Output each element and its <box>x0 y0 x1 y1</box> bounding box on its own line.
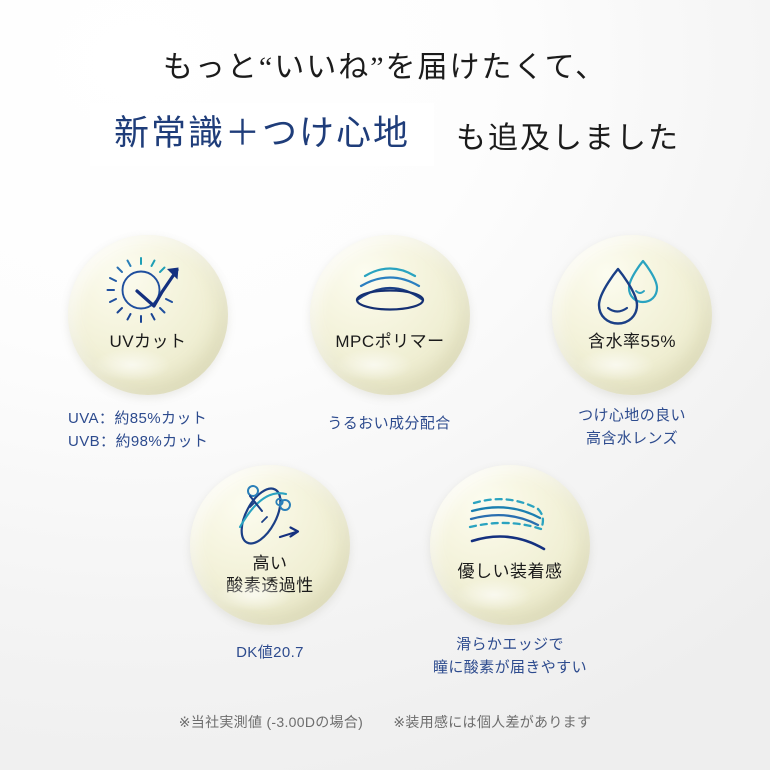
feature-label-mpc-polymer: MPCポリマー <box>310 331 470 353</box>
feature-caption-uv-cut: UVA：約85%カット UVB：約98%カット <box>28 408 308 453</box>
sun-uv-icon <box>68 255 228 327</box>
feature-sphere-oxygen-permeability: 高い 酸素透過性 <box>190 465 350 625</box>
smooth-edge-icon <box>430 485 590 557</box>
promo-panel: もっと“いいね”を届けたくて、 新常識＋つけ心地 も追及しました <box>0 0 770 770</box>
feature-sphere-uv-cut: UVカット <box>68 235 228 395</box>
feature-caption-oxygen-permeability: DK値20.7 <box>170 642 370 665</box>
headline-line-1: もっと“いいね”を届けたくて、 <box>0 50 770 86</box>
feature-label-uv-cut: UVカット <box>68 331 228 353</box>
water-drop-icon <box>552 255 712 327</box>
headline-highlight-box: 新常識＋つけ心地 <box>90 103 434 166</box>
feature-caption-mpc-polymer: うるおい成分配合 <box>289 413 489 436</box>
headline-tail-text: も追及しました <box>456 113 680 157</box>
feature-caption-gentle-fit: 滑らかエッジで 瞳に酸素が届きやすい <box>410 634 610 679</box>
feature-label-oxygen-permeability: 高い 酸素透過性 <box>190 553 350 597</box>
feature-sphere-gentle-fit: 優しい装着感 <box>430 465 590 625</box>
footer-disclaimers: ※当社実測値 (-3.00Dの場合) ※装用感には個人差があります <box>0 712 770 732</box>
feature-caption-water-content: つけ心地の良い 高含水レンズ <box>532 405 732 450</box>
footer-note-individual-differences: ※装用感には個人差があります <box>393 714 591 730</box>
feature-sphere-water-content: 含水率55% <box>552 235 712 395</box>
feature-label-gentle-fit: 優しい装着感 <box>430 561 590 583</box>
feature-label-water-content: 含水率55% <box>552 331 712 353</box>
headline-highlight-text: 新常識＋つけ心地 <box>114 114 410 153</box>
feature-sphere-mpc-polymer: MPCポリマー <box>310 235 470 395</box>
footer-note-measured-value: ※当社実測値 (-3.00Dの場合) <box>179 714 363 730</box>
headline-block: もっと“いいね”を届けたくて、 新常識＋つけ心地 も追及しました <box>0 50 770 166</box>
lens-dome-icon <box>310 255 470 327</box>
headline-line-2: 新常識＋つけ心地 も追及しました <box>0 103 770 166</box>
oxygen-lens-icon <box>190 479 350 551</box>
